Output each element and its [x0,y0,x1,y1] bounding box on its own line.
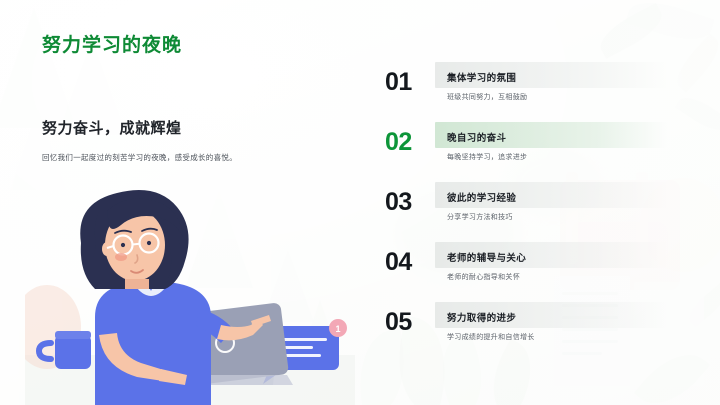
list-item-title: 努力取得的进步 [447,310,535,324]
list-item[interactable]: 03 彼此的学习经验 分享学习方法和技巧 [385,178,705,238]
list-item-title: 彼此的学习经验 [447,190,516,204]
woman-head [80,190,188,289]
slide-description: 回忆我们一起度过的刻苦学习的夜晚，感受成长的喜悦。 [42,152,237,163]
numbered-list: 01 集体学习的氛围 班级共同努力，互相鼓励 02 晚自习的奋斗 每晚坚持学习，… [385,58,705,358]
fern-leaf-shape [625,0,714,48]
illustration-woman-at-laptop: 1 [25,185,355,405]
notification-badge: 1 [329,319,347,337]
list-item-subtitle: 学习成绩的提升和自信增长 [447,332,535,342]
list-item-title: 老师的辅导与关心 [447,250,526,264]
list-item-title: 晚自习的奋斗 [447,130,527,144]
list-item[interactable]: 01 集体学习的氛围 班级共同努力，互相鼓励 [385,58,705,118]
presentation-slide: 1 [0,0,720,405]
list-item-subtitle: 分享学习方法和技巧 [447,212,516,222]
list-item-subtitle: 每晚坚持学习，追求进步 [447,152,527,162]
list-item[interactable]: 02 晚自习的奋斗 每晚坚持学习，追求进步 [385,118,705,178]
svg-text:1: 1 [335,324,340,334]
page-title: 努力学习的夜晚 [42,30,182,57]
fern-leaf-shape [594,3,668,59]
list-item[interactable]: 05 努力取得的进步 学习成绩的提升和自信增长 [385,298,705,358]
list-item-subtitle: 老师的耐心指导和关怀 [447,272,526,282]
fir-tree-shape [0,8,76,128]
list-item[interactable]: 04 老师的辅导与关心 老师的耐心指导和关怀 [385,238,705,298]
list-item-subtitle: 班级共同努力，互相鼓励 [447,92,527,102]
slide-subtitle: 努力奋斗，成就辉煌 [42,117,182,138]
list-item-title: 集体学习的氛围 [447,70,527,84]
